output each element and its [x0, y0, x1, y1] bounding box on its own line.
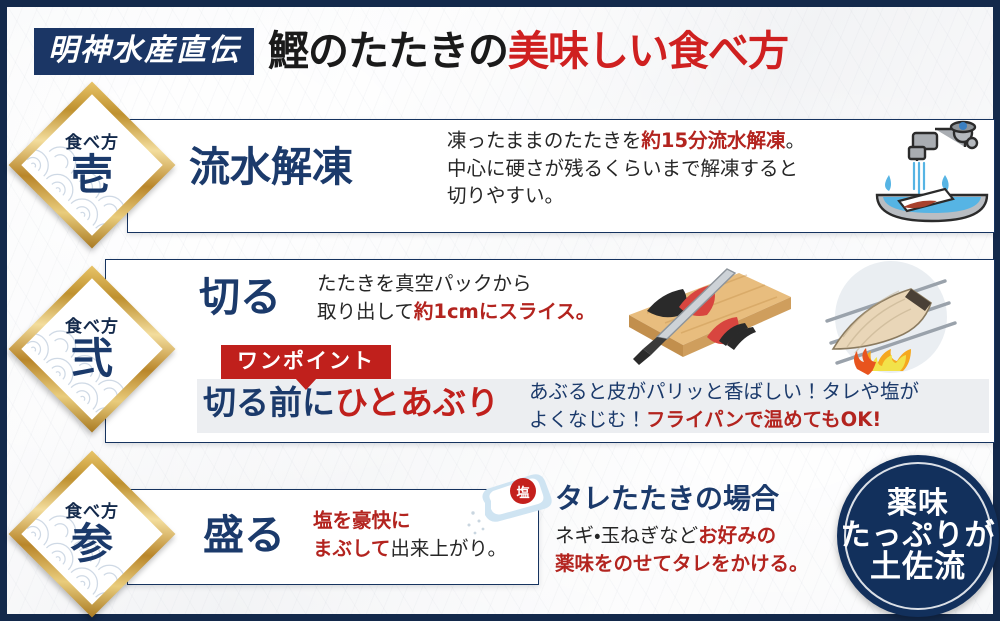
salt-shaker-icon: 塩 [467, 469, 563, 535]
step-2-badge-top: 食べ方 [65, 319, 119, 336]
tosa-style-seal: 薬味 たっぷりが 土佐流 [837, 455, 999, 617]
sauce-line-1: ネギ・玉ねぎなどお好みの [555, 522, 809, 550]
page-title-black: 鰹のたたきの [268, 27, 508, 75]
brand-badge: 明神水産直伝 [34, 28, 254, 75]
infographic-root: 明神水産直伝 鰹のたたきの美味しい食べ方 [0, 0, 1000, 621]
text-run-navy: よくなじむ！ [529, 408, 646, 431]
text-run-navy: あぶると皮がパリッと香ばしい！タレや塩が [529, 380, 919, 403]
onepoint-main-red: ひとあぶり [335, 383, 499, 422]
step-1-badge: 食べ方 壱 [33, 106, 151, 224]
step-1-line-3: 切りやすい。 [447, 182, 805, 210]
text-run-red: 薬味をのせてタレをかける。 [555, 552, 809, 575]
onepoint-tag: ワンポイント [221, 345, 391, 379]
step-3-badge: 食べ方 参 [33, 475, 151, 593]
step-1-line-2: 中心に硬さが残るくらいまで解凍すると [447, 155, 805, 183]
step-2-badge-number: 弐 [71, 338, 113, 380]
svg-text:塩: 塩 [516, 485, 529, 501]
onepoint-line-2: よくなじむ！フライパンで温めてもOK! [529, 406, 919, 434]
grilled-fish-flame-icon [813, 259, 973, 377]
step-1-description: 凍ったままのたたきを約15分流水解凍。 中心に硬さが残るくらいまで解凍すると 切… [447, 127, 805, 210]
step-2-badge: 食べ方 弐 [33, 290, 151, 408]
cutting-board-knife-icon [621, 263, 799, 369]
onepoint-line-1: あぶると皮がパリッと香ばしい！タレや塩が [529, 378, 919, 406]
step-1-badge-number: 壱 [71, 154, 113, 196]
step-2-description: たたきを真空パックから 取り出して約1cmにスライス。 [317, 270, 595, 325]
text-run-red: 約1cmにスライス。 [414, 300, 595, 323]
text-run: 取り出して [317, 300, 414, 323]
page-title: 鰹のたたきの美味しい食べ方 [268, 31, 788, 72]
step-2-heading: 切る [199, 277, 281, 318]
sauce-line-2: 薬味をのせてタレをかける。 [555, 550, 809, 578]
seal-line-1: 薬味 [887, 488, 949, 520]
onepoint-main-text: 切る前にひとあぶり [203, 386, 499, 419]
step-3-badge-number: 参 [71, 523, 113, 565]
text-run-red: 塩を豪快に [313, 509, 411, 532]
step-3-line-2: まぶして出来上がり。 [313, 535, 507, 563]
seal-line-3: 土佐流 [870, 551, 966, 584]
text-run: ネギ・玉ねぎなど [555, 524, 698, 547]
sauce-section: タレたたきの場合 ネギ・玉ねぎなどお好みの 薬味をのせてタレをかける。 [555, 485, 809, 577]
text-run-red: フライパンで温めてもOK! [646, 408, 881, 431]
header: 明神水産直伝 鰹のたたきの美味しい食べ方 [7, 7, 993, 95]
page-title-red: 美味しい食べ方 [508, 27, 788, 75]
text-run: 凍ったままのたたきを [447, 129, 641, 152]
step-1-heading: 流水解凍 [189, 147, 353, 188]
step-2-line-2: 取り出して約1cmにスライス。 [317, 298, 595, 326]
step-1-line-1: 凍ったままのたたきを約15分流水解凍。 [447, 127, 805, 155]
sauce-heading: タレたたきの場合 [555, 485, 809, 513]
seal-line-2: たっぷりが [841, 520, 996, 552]
step-1-badge-top: 食べ方 [65, 135, 119, 152]
text-run: 。 [786, 129, 806, 152]
text-run-red: まぶして [313, 537, 390, 560]
onepoint-description: あぶると皮がパリッと香ばしい！タレや塩が よくなじむ！フライパンで温めてもOK! [529, 378, 919, 433]
step-2-line-1: たたきを真空パックから [317, 270, 595, 298]
text-run: 出来上がり。 [390, 537, 507, 560]
text-run-red: 約15分流水解凍 [641, 129, 785, 152]
faucet-bowl-icon [873, 111, 991, 229]
text-run-red: お好みの [698, 524, 776, 547]
step-3-badge-top: 食べ方 [65, 504, 119, 521]
step-3-heading: 盛る [203, 515, 285, 556]
